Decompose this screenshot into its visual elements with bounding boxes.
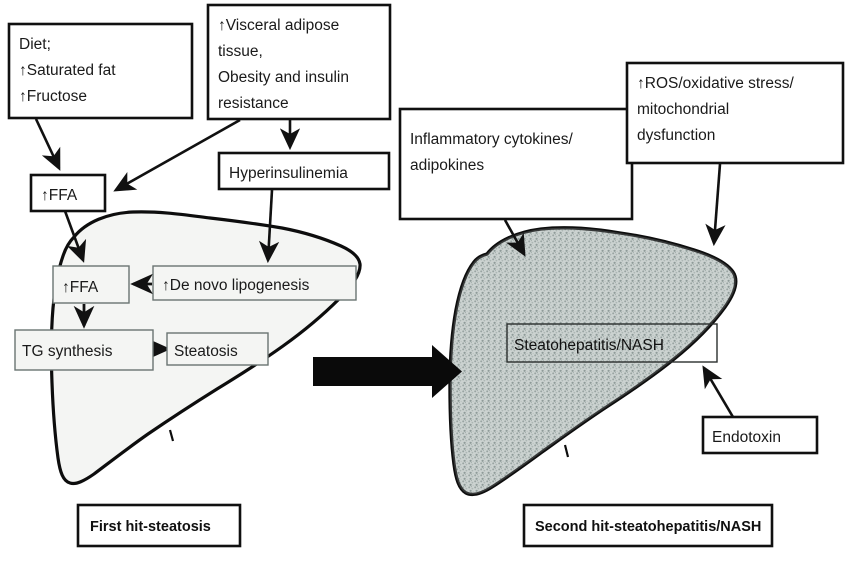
liver-texture-overlay (450, 228, 736, 495)
hyperinsulinemia-label: Hyperinsulinemia (229, 165, 348, 182)
diet-line-2: ↑Saturated fat (19, 62, 116, 79)
figure-canvas: Diet; ↑Saturated fat ↑Fructose ↑Visceral… (0, 0, 850, 561)
ffa-inner-label: ↑FFA (62, 279, 99, 296)
liver-notch-mark-left (170, 430, 173, 441)
nafld-two-hit-diagram: Diet; ↑Saturated fat ↑Fructose ↑Visceral… (0, 0, 850, 561)
box-ffa-inner[interactable]: ↑FFA (53, 266, 129, 303)
box-tg-synthesis[interactable]: TG synthesis (15, 330, 153, 370)
visceral-line-1: ↑Visceral adipose (218, 17, 339, 34)
endotoxin-label: Endotoxin (712, 429, 781, 446)
box-hyperinsulinemia[interactable]: Hyperinsulinemia (219, 153, 389, 189)
arrow-diet-to-ffa (36, 119, 59, 168)
box-de-novo-lipogenesis[interactable]: ↑De novo lipogenesis (153, 266, 356, 300)
box-visceral-adipose[interactable]: ↑Visceral adipose tissue, Obesity and in… (208, 5, 390, 119)
diet-line-1: Diet; (19, 36, 51, 53)
box-diet[interactable]: Diet; ↑Saturated fat ↑Fructose (9, 24, 192, 118)
inflammatory-line-2: adipokines (410, 157, 484, 174)
box-inflammatory-cytokines[interactable]: Inflammatory cytokines/ adipokines (400, 109, 632, 219)
liver-notch-mark-right (565, 445, 568, 457)
box-steatosis[interactable]: Steatosis (167, 333, 268, 365)
inflammatory-line-1: Inflammatory cytokines/ (410, 131, 573, 148)
arrow-endotoxin-to-liver (704, 368, 733, 417)
box-endotoxin[interactable]: Endotoxin (703, 417, 817, 453)
steatosis-label: Steatosis (174, 343, 238, 360)
ros-line-3: dysfunction (637, 127, 715, 144)
tg-synthesis-label: TG synthesis (22, 343, 113, 360)
ros-line-1: ↑ROS/oxidative stress/ (637, 75, 794, 92)
progression-arrow (313, 345, 462, 398)
visceral-line-2: tissue, (218, 43, 263, 60)
arrow-ros-to-liver (714, 164, 720, 243)
steatohepatitis-nash-label: Steatohepatitis/NASH (514, 337, 664, 354)
caption-second-hit-label: Second hit-steatohepatitis/NASH (535, 519, 761, 535)
ros-line-2: mitochondrial (637, 101, 729, 118)
box-ffa-outer[interactable]: ↑FFA (31, 175, 105, 211)
box-ros-oxidative-stress[interactable]: ↑ROS/oxidative stress/ mitochondrial dys… (627, 63, 843, 163)
de-novo-lipogenesis-label: ↑De novo lipogenesis (162, 277, 310, 294)
caption-first-hit-label: First hit-steatosis (90, 519, 211, 535)
diet-line-3: ↑Fructose (19, 88, 87, 105)
visceral-line-3: Obesity and insulin (218, 69, 349, 86)
caption-first-hit[interactable]: First hit-steatosis (78, 505, 240, 546)
caption-second-hit[interactable]: Second hit-steatohepatitis/NASH (524, 505, 772, 546)
visceral-line-4: resistance (218, 95, 289, 112)
ffa-outer-label: ↑FFA (41, 187, 78, 204)
